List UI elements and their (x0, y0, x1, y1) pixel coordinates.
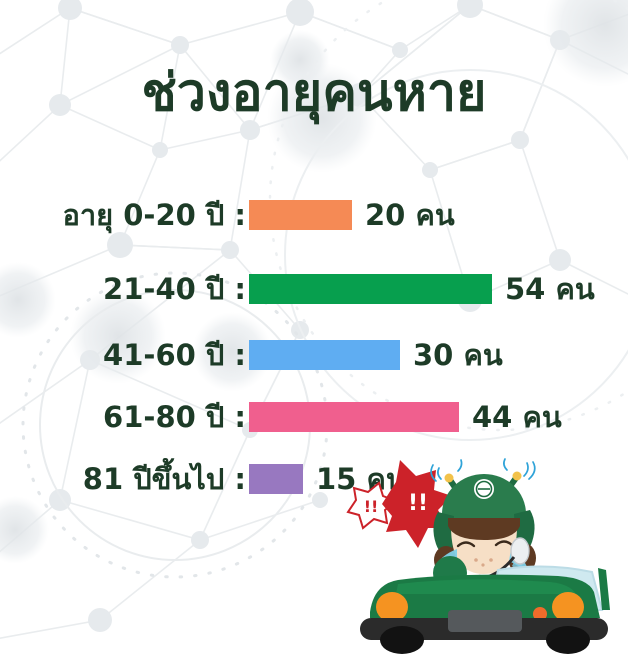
car (360, 566, 610, 654)
svg-text:!!: !! (364, 497, 379, 516)
row-value-61-80: 44 คน (472, 394, 562, 440)
row-bar-group-61-80: 44 คน (249, 394, 562, 440)
bar-81-up (249, 464, 303, 494)
wheel-left (380, 626, 424, 654)
license-plate (448, 610, 522, 632)
row-label-81-up: 81 ปีขึ้นไป : (83, 456, 246, 502)
row-bar-group-41-60: 30 คน (249, 332, 503, 378)
row-label-21-40: 21-40 ปี : (103, 266, 246, 312)
row-label-61-80: 61-80 ปี : (103, 394, 246, 440)
headlight-right (552, 592, 584, 622)
row-bar-group-21-40: 54 คน (249, 266, 595, 312)
row-value-21-40: 54 คน (505, 266, 595, 312)
headlight-left (376, 592, 408, 622)
table-row: 41-60 ปี : 30 คน (0, 324, 628, 386)
bar-21-40 (249, 274, 492, 304)
wheel-right (546, 626, 590, 654)
row-value-0-20: 20 คน (365, 192, 455, 238)
crying-officer-driving-car-illustration: !! !! (330, 452, 628, 654)
bar-61-80 (249, 402, 459, 432)
bar-41-60 (249, 340, 400, 370)
table-row: 61-80 ปี : 44 คน (0, 386, 628, 448)
row-label-0-20: อายุ 0-20 ปี : (62, 192, 246, 238)
table-row: 21-40 ปี : 54 คน (0, 254, 628, 324)
row-label-41-60: 41-60 ปี : (103, 332, 246, 378)
page-title: ช่วงอายุคนหาย (0, 66, 628, 121)
row-value-41-60: 30 คน (413, 332, 503, 378)
table-row: อายุ 0-20 ปี : 20 คน (0, 176, 628, 254)
antenna-tip-left (445, 474, 454, 483)
row-bar-group-0-20: 20 คน (249, 192, 455, 238)
svg-text:!!: !! (408, 491, 428, 516)
infographic-canvas: ช่วงอายุคนหาย อายุ 0-20 ปี : 20 คน 21-40… (0, 0, 628, 654)
bar-0-20 (249, 200, 352, 230)
antenna-tip-right (513, 472, 522, 481)
helmet-badge-icon (474, 479, 494, 499)
